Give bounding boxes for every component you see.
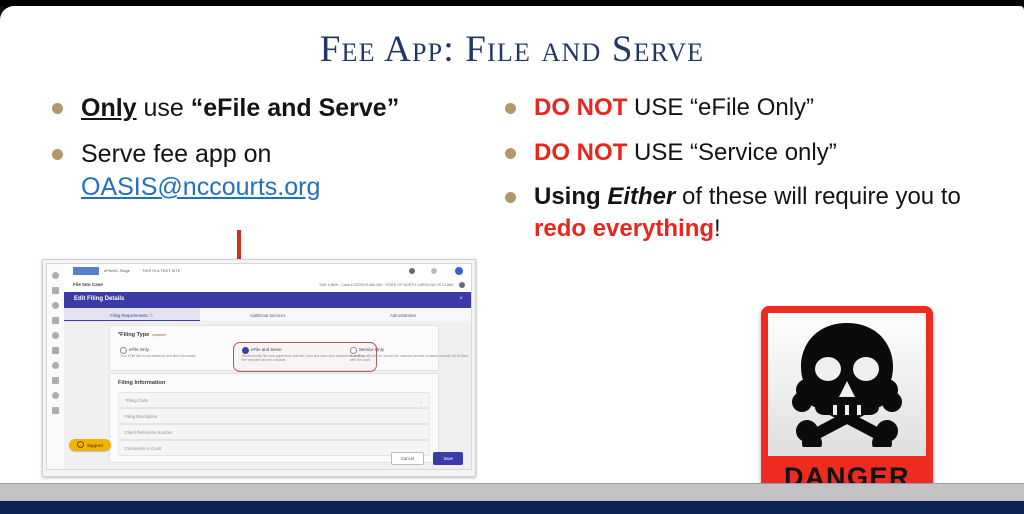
documents-icon[interactable]	[52, 377, 59, 384]
list-item: Only use “eFile and Serve”	[52, 92, 492, 125]
bullet-dot-icon	[52, 149, 63, 160]
bullet-text-do-not-service-only: DO NOT USE “Service only”	[534, 137, 837, 169]
filing-type-options: eFile Only Your eFile filer is not deliv…	[110, 344, 438, 370]
tab-additional-services[interactable]: Additional Services	[200, 308, 336, 321]
page-title: Fee App: File and Serve	[0, 28, 1024, 71]
danger-banner: DANGER	[768, 456, 926, 486]
case-header-bar: File Into Case SUE A BEN - Case # 22CR10…	[64, 278, 471, 293]
support-button[interactable]: Support	[69, 439, 111, 452]
bookmarks-icon[interactable]	[52, 317, 59, 324]
save-button[interactable]: Save	[433, 452, 463, 465]
filing-type-label: *Filing Typerequired	[118, 332, 165, 338]
panel-title: Edit Filing Details	[74, 296, 124, 302]
filing-code-select[interactable]: *Filing Code ⌄	[118, 392, 430, 408]
templates-icon[interactable]	[52, 362, 59, 369]
app-window: eFileNC Stage THIS IS A TEST SITE File I…	[46, 263, 472, 470]
bullet-dot-icon	[52, 103, 63, 114]
close-icon[interactable]: ×	[459, 296, 463, 302]
radio-circle-icon	[242, 347, 249, 354]
option-label: eFile and Serve	[251, 347, 282, 352]
text-use-service-only: USE “Service only”	[627, 139, 836, 166]
tab-label: Administrative	[390, 313, 416, 318]
radio-circle-icon	[120, 347, 127, 354]
text-using: Using	[534, 183, 607, 210]
skull-and-crossbones-icon	[768, 319, 926, 447]
gear-icon[interactable]	[459, 282, 465, 288]
video-frame: Fee App: File and Serve Only use “eFile …	[0, 0, 1024, 514]
letterbox-navy-bar	[0, 501, 1024, 514]
app-name-label: eFileNC Stage	[104, 268, 130, 273]
emphasis-only: Only	[81, 94, 137, 122]
text-of-these-will-require: of these will require you to	[675, 183, 960, 210]
form-footer-buttons: Cancel Save	[386, 447, 463, 465]
option-description: Electronically file your paperwork with …	[242, 354, 364, 363]
chevron-down-icon: ⌄	[420, 399, 423, 404]
filing-tabs: Filing Requirements ⚠ Additional Service…	[64, 308, 471, 322]
field-label: *Filing Code	[125, 398, 148, 403]
efiling-logo-icon	[73, 267, 99, 275]
list-item: DO NOT USE “eFile Only”	[505, 92, 975, 124]
field-label: Filing Description	[125, 414, 157, 419]
question-mark-icon	[77, 441, 84, 448]
app-content-area: *Filing Typerequired eFile Only Your eFi…	[64, 321, 471, 469]
help-icon[interactable]	[52, 407, 59, 414]
option-description: Your filing will only be sent to the sel…	[350, 354, 472, 363]
tab-label: Filing Requirements	[110, 313, 147, 318]
field-label: Client Reference Number	[125, 430, 172, 435]
option-description: Your eFile filer is not delivered and fi…	[120, 354, 196, 358]
bullet-text-serve-fee-app: Serve fee app on OASIS@nccourts.org	[81, 138, 320, 204]
left-bullet-list: Only use “eFile and Serve” Serve fee app…	[52, 92, 492, 217]
presentation-slide: Fee App: File and Serve Only use “eFile …	[0, 6, 1024, 486]
cases-icon[interactable]	[52, 287, 59, 294]
client-reference-number-input[interactable]: Client Reference Number	[118, 424, 430, 440]
emphasis-do-not: DO NOT	[534, 94, 627, 121]
globe-icon[interactable]	[409, 268, 415, 274]
bullet-text-only-use: Only use “eFile and Serve”	[81, 92, 399, 125]
emphasis-do-not: DO NOT	[534, 139, 627, 166]
tab-filing-requirements[interactable]: Filing Requirements ⚠	[64, 308, 200, 321]
emphasis-redo-everything: redo everything	[534, 215, 714, 242]
settings-icon[interactable]	[52, 392, 59, 399]
letterbox-gray-strip	[0, 483, 1024, 502]
bullet-dot-icon	[505, 103, 516, 114]
file-into-case-title: File Into Case	[73, 282, 103, 287]
radio-circle-icon	[350, 347, 357, 354]
support-label: Support	[87, 443, 103, 448]
cancel-button[interactable]: Cancel	[391, 452, 424, 465]
avatar[interactable]	[455, 267, 463, 275]
home-icon[interactable]	[52, 272, 59, 279]
environment-label: THIS IS A TEST SITE	[142, 268, 181, 273]
list-item: Serve fee app on OASIS@nccourts.org	[52, 138, 492, 204]
text-use-efile-only: USE “eFile Only”	[627, 94, 814, 121]
edit-filing-details-header: Edit Filing Details ×	[64, 292, 471, 308]
list-item: Using Either of these will require you t…	[505, 181, 975, 244]
emphasis-either: Either	[607, 183, 675, 210]
bullet-dot-icon	[505, 148, 516, 159]
oasis-email-link[interactable]: OASIS@nccourts.org	[81, 173, 320, 201]
filing-information-heading: Filing Information	[118, 380, 165, 386]
field-label: Comments to Court	[125, 446, 161, 451]
filing-description-input[interactable]: Filing Description	[118, 408, 430, 424]
filing-type-text: *Filing Type	[118, 332, 149, 338]
emphasis-efile-and-serve: “eFile and Serve”	[191, 94, 399, 122]
text-serve-fee-app-on: Serve fee app on	[81, 140, 271, 168]
app-sidebar-rail[interactable]	[47, 264, 65, 469]
app-top-bar: eFileNC Stage THIS IS A TEST SITE	[64, 264, 471, 279]
filings-icon[interactable]	[52, 302, 59, 309]
option-label: eFile Only	[129, 347, 149, 352]
case-info-text: SUE A BEN - Case # 22CR101366-350 - STAT…	[319, 283, 453, 287]
bullet-text-do-not-efile-only: DO NOT USE “eFile Only”	[534, 92, 814, 124]
tab-label: Additional Services	[250, 313, 286, 318]
reports-icon[interactable]	[52, 347, 59, 354]
warning-icon: ⚠	[149, 313, 153, 319]
bullet-dot-icon	[505, 192, 516, 203]
grid-icon[interactable]	[431, 268, 437, 274]
text-exclamation: !	[714, 215, 721, 242]
danger-sign-face	[768, 313, 926, 458]
text-use: use	[137, 94, 191, 122]
right-bullet-list: DO NOT USE “eFile Only” DO NOT USE “Serv…	[505, 92, 975, 258]
comments-to-court-input[interactable]: Comments to Court	[118, 440, 430, 456]
bullet-text-using-either: Using Either of these will require you t…	[534, 181, 975, 244]
filing-type-card: *Filing Typerequired eFile Only Your eFi…	[109, 325, 439, 371]
calendar-icon[interactable]	[52, 332, 59, 339]
tab-administrative[interactable]: Administrative	[335, 308, 471, 321]
list-item: DO NOT USE “Service only”	[505, 137, 975, 169]
embedded-app-screenshot: eFileNC Stage THIS IS A TEST SITE File I…	[42, 259, 476, 477]
option-label: Service Only	[359, 347, 384, 352]
required-note: required	[152, 333, 165, 337]
danger-sign: DANGER	[761, 306, 933, 486]
